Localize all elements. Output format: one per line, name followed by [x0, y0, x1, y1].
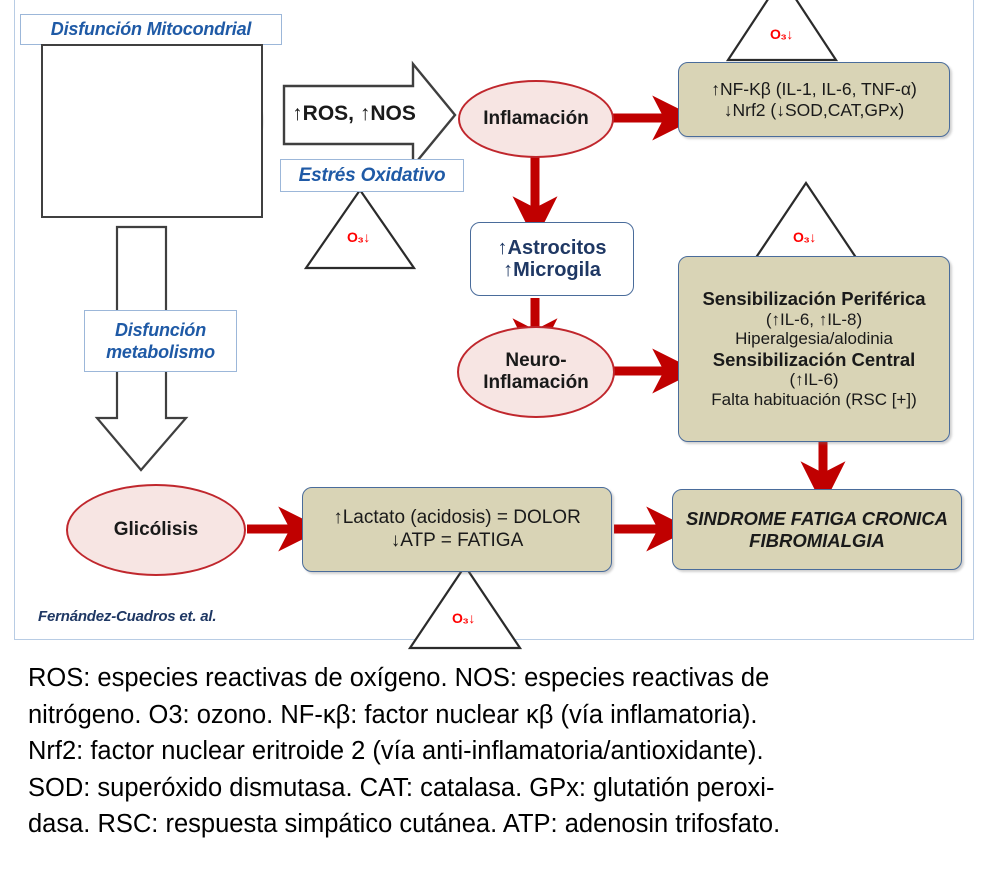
node-astrocitos-line1: ↑Astrocitos — [498, 237, 607, 259]
label-disfuncion-mitocondrial: Disfunción Mitocondrial — [20, 14, 282, 45]
node-sensibilizacion-line4: Sensibilización Central — [713, 349, 916, 370]
node-lactato-line2: ↓ATP = FATIGA — [391, 530, 524, 552]
node-sensibilizacion: Sensibilización Periférica (↑IL-6, ↑IL-8… — [678, 256, 950, 442]
node-glicolisis-text: Glicólisis — [114, 519, 198, 541]
label-estres-oxidativo-text: Estrés Oxidativo — [299, 165, 446, 187]
label-disfuncion-mitocondrial-text: Disfunción Mitocondrial — [51, 19, 251, 40]
caption-line-4: SOD: superóxido dismutasa. CAT: catalasa… — [28, 770, 972, 807]
ozone-label-sensibilizacion: O₃↓ — [793, 229, 816, 245]
node-lactato-atp: ↑Lactato (acidosis) = DOLOR ↓ATP = FATIG… — [302, 487, 612, 572]
node-glicolisis: Glicólisis — [66, 484, 246, 576]
ozone-label-lactato: O₃↓ — [452, 610, 475, 626]
author-credit: Fernández-Cuadros et. al. — [38, 608, 216, 625]
label-disfuncion-metabolismo: Disfunción metabolismo — [84, 310, 237, 372]
node-sensibilizacion-line2: (↑IL-6, ↑IL-8) — [766, 310, 862, 330]
label-estres-oxidativo: Estrés Oxidativo — [280, 159, 464, 192]
node-nfkb-line2: ↓Nrf2 (↓SOD,CAT,GPx) — [724, 100, 905, 120]
node-lactato-line1: ↑Lactato (acidosis) = DOLOR — [333, 507, 581, 529]
mitochondrion-picture-box — [41, 44, 263, 218]
label-disfuncion-metabolismo-line2: metabolismo — [106, 341, 215, 364]
label-ros-nos-text: ↑ROS, ↑NOS — [292, 102, 416, 126]
caption-line-3: Nrf2: factor nuclear eritroide 2 (vía an… — [28, 733, 972, 770]
node-astrocitos-microgila: ↑Astrocitos ↑Microgila — [470, 222, 634, 296]
node-sindrome-line2: FIBROMIALGIA — [749, 530, 885, 551]
node-neuro-inflamacion: Neuro- Inflamación — [457, 326, 615, 418]
screenshot-root: O₃↓ O₃↓ O₃↓ O₃↓ Disfunción Mitocondrial … — [0, 0, 996, 890]
node-nfkb-nrf2: ↑NF-Κβ (IL-1, IL-6, TNF-α) ↓Nrf2 (↓SOD,C… — [678, 62, 950, 137]
node-nfkb-line1: ↑NF-Κβ (IL-1, IL-6, TNF-α) — [711, 79, 917, 99]
node-inflamacion: Inflamación — [458, 80, 614, 158]
caption-line-2: nitrógeno. O3: ozono. NF-κβ: factor nucl… — [28, 697, 972, 734]
node-neuro-inflamacion-line1: Neuro- — [505, 350, 566, 372]
node-sensibilizacion-line5: (↑IL-6) — [789, 370, 838, 390]
node-sindrome-line1: SINDROME FATIGA CRONICA — [686, 508, 948, 529]
label-ros-nos: ↑ROS, ↑NOS — [288, 96, 420, 132]
figure-caption: ROS: especies reactivas de oxígeno. NOS:… — [28, 660, 972, 843]
label-disfuncion-metabolismo-line1: Disfunción — [115, 319, 206, 342]
ozone-label-nfkb: O₃↓ — [770, 26, 793, 42]
ozone-triangle-lactato — [410, 566, 520, 648]
caption-line-1: ROS: especies reactivas de oxígeno. NOS:… — [28, 660, 972, 697]
node-sindrome-fatiga-fibromialgia: SINDROME FATIGA CRONICA FIBROMIALGIA — [672, 489, 962, 570]
ozone-label-oxidativo: O₃↓ — [347, 229, 370, 245]
caption-line-5: dasa. RSC: respuesta simpático cutánea. … — [28, 806, 972, 843]
node-sensibilizacion-line1: Sensibilización Periférica — [702, 288, 925, 309]
node-astrocitos-line2: ↑Microgila — [503, 259, 601, 281]
ozone-triangle-sensibilizacion — [751, 183, 861, 265]
node-sensibilizacion-line3: Hiperalgesia/alodinia — [735, 329, 893, 349]
node-sensibilizacion-line6: Falta habituación (RSC [+]) — [711, 390, 917, 410]
node-inflamacion-text: Inflamación — [483, 108, 589, 130]
node-neuro-inflamacion-line2: Inflamación — [483, 372, 589, 394]
